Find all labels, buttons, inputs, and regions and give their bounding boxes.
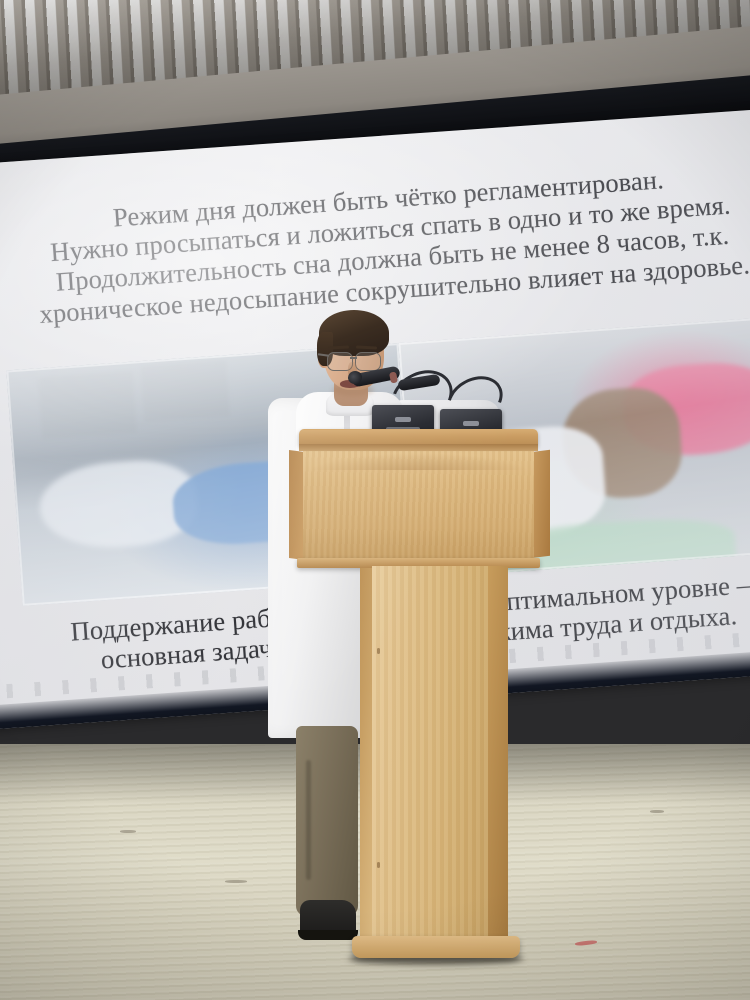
podium-top-edge bbox=[299, 444, 538, 451]
podium-screw bbox=[377, 862, 380, 868]
podium-right-panel bbox=[532, 450, 550, 558]
trouser-fold bbox=[306, 760, 311, 880]
podium-base bbox=[352, 936, 520, 958]
podium-screw bbox=[377, 648, 380, 654]
presentation-scene: Режим дня должен быть чётко регламентиро… bbox=[0, 0, 750, 1000]
podium-column bbox=[372, 566, 494, 946]
glasses-lens-right bbox=[355, 352, 381, 371]
glasses-bridge bbox=[350, 357, 357, 359]
podium-column-right-edge bbox=[488, 566, 508, 946]
speaker-shoe-sole bbox=[298, 930, 358, 940]
podium-front-shading bbox=[303, 450, 534, 470]
